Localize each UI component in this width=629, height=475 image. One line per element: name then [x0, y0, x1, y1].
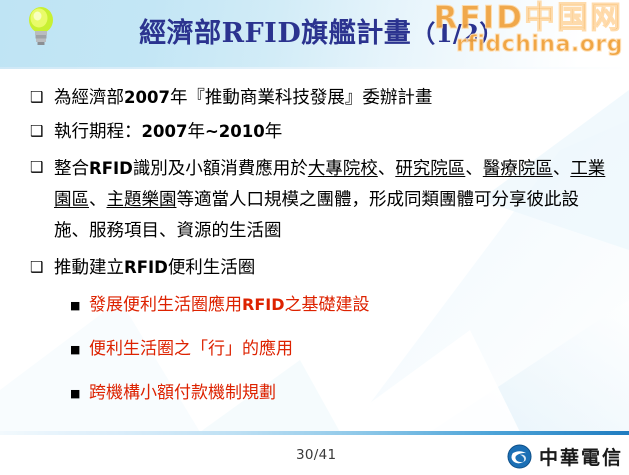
bullet-marker-filled-square-icon: ■ [70, 293, 89, 319]
bullet-marker-hollow-square-icon: ❑ [30, 153, 54, 182]
brand-logo: 中華電信 [507, 443, 623, 470]
page-number: 30/41 [296, 447, 336, 463]
page-title-counter: （1/2） [411, 19, 504, 48]
bullet-marker-filled-square-icon: ■ [70, 381, 89, 407]
footer-divider [0, 431, 629, 435]
bullet-item-4: ❑ 推動建立RFID便利生活圈 [30, 253, 611, 283]
bullet-text-3: 整合RFID識別及小額消費應用於大專院校、研究院區、醫療院區、工業園區、主題樂園… [54, 153, 611, 247]
bullet-marker-hollow-square-icon: ❑ [30, 253, 54, 282]
page-title: 經濟部RFID旗艦計畫（1/2） [0, 14, 629, 54]
sub-bullet-text-1: 發展便利生活圈應用RFID之基礎建設 [89, 293, 611, 317]
bullet-text-4: 推動建立RFID便利生活圈 [54, 253, 611, 283]
bullet-marker-hollow-square-icon: ❑ [30, 117, 54, 146]
bullet-marker-hollow-square-icon: ❑ [30, 83, 54, 112]
bullet-item-1: ❑ 為經濟部2007年『推動商業科技發展』委辦計畫 [30, 83, 611, 113]
bullet-item-2: ❑ 執行期程：2007年~2010年 [30, 117, 611, 147]
bullet-text-1: 為經濟部2007年『推動商業科技發展』委辦計畫 [54, 83, 611, 113]
slide-content: ❑ 為經濟部2007年『推動商業科技發展』委辦計畫 ❑ 執行期程：2007年~2… [0, 69, 629, 427]
slide-root: 經濟部RFID旗艦計畫（1/2） RFID中国网 rfidchina.org ❑… [0, 0, 629, 475]
sub-bullet-text-2: 便利生活圈之「行」的應用 [89, 337, 611, 361]
sub-bullet-text-3: 跨機構小額付款機制規劃 [89, 381, 611, 405]
bullet-marker-filled-square-icon: ■ [70, 337, 89, 363]
bullet-text-2: 執行期程：2007年~2010年 [54, 117, 611, 147]
sub-bullet-item-2: ■ 便利生活圈之「行」的應用 [70, 337, 611, 363]
sub-bullet-item-1: ■ 發展便利生活圈應用RFID之基礎建設 [70, 293, 611, 319]
sub-bullet-list: ■ 發展便利生活圈應用RFID之基礎建設 ■ 便利生活圈之「行」的應用 ■ 跨機… [30, 293, 611, 407]
sub-bullet-item-3: ■ 跨機構小額付款機制規劃 [70, 381, 611, 407]
page-title-main: 經濟部RFID旗艦計畫 [139, 18, 411, 49]
brand-name: 中華電信 [539, 443, 623, 470]
chunghwa-telecom-logo-icon [507, 444, 532, 469]
bullet-item-3: ❑ 整合RFID識別及小額消費應用於大專院校、研究院區、醫療院區、工業園區、主題… [30, 153, 611, 247]
